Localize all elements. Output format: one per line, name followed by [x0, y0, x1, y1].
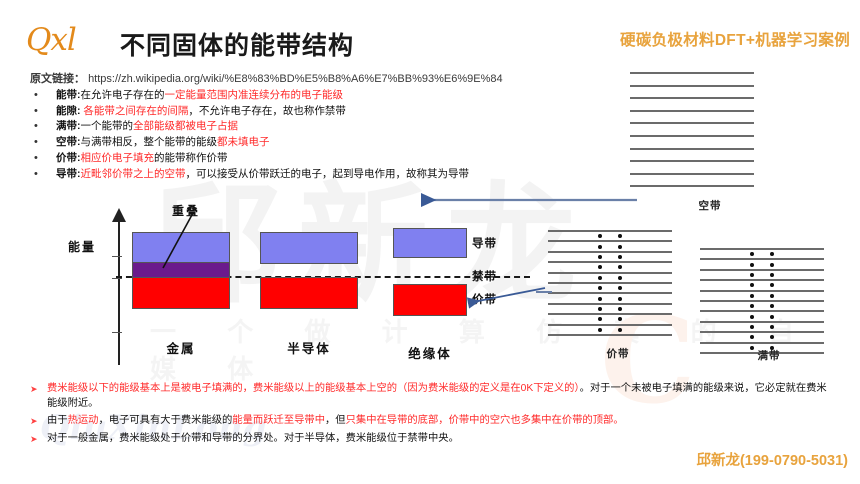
energy-level-line — [548, 324, 672, 326]
definition-segment: 各能带之间存在的间隔 — [83, 105, 188, 117]
note-marker-icon: ➤ — [30, 414, 47, 429]
semiconductor-conduction-band — [260, 232, 358, 264]
energy-level-line — [548, 251, 672, 253]
page-title: 不同固体的能带结构 — [120, 26, 354, 62]
definition-segment: 在允许电子存在的 — [81, 89, 165, 101]
electron-dot — [770, 304, 774, 308]
electron-dot — [598, 307, 602, 311]
energy-level-line — [548, 272, 672, 274]
note-segment: 对于一般金属，费米能级处于价带和导带的分界处。对于半导体，费米能级位于禁带中央。 — [47, 433, 459, 444]
ladder-full-band — [700, 248, 838, 360]
definition-term: 价带: — [56, 152, 81, 164]
electron-dot — [750, 325, 754, 329]
energy-level-line — [548, 313, 672, 315]
note-item: ➤费米能级以下的能级基本上是被电子填满的，费米能级以上的能级基本上空的（因为费米… — [30, 382, 830, 411]
energy-level-line — [700, 310, 824, 312]
note-segment: ，但 — [325, 415, 346, 426]
energy-level-line — [548, 240, 672, 242]
electron-dot — [598, 286, 602, 290]
energy-level-line — [630, 148, 754, 150]
definition-term: 空带: — [56, 136, 81, 148]
overlap-label: 重叠 — [172, 202, 200, 219]
energy-level-line — [630, 135, 754, 137]
electron-dot — [618, 328, 622, 332]
column-label-insulator: 绝缘体 — [385, 343, 475, 362]
electron-dot — [750, 315, 754, 319]
electron-dot — [770, 335, 774, 339]
energy-level-line — [548, 334, 672, 336]
definition-segment: 都未填电子 — [217, 136, 270, 148]
electron-dot — [598, 255, 602, 259]
metal-conduction-band — [132, 232, 230, 264]
note-segment: ，电子可具有大于费米能级的 — [98, 415, 232, 426]
energy-level-line — [548, 292, 672, 294]
side-label-forbidden-band: 禁带 — [472, 268, 497, 284]
definition-segment: 一个能带的 — [81, 120, 134, 132]
definition-segment: 的能带称作价带 — [154, 152, 228, 164]
ladder-label-full-band: 满带 — [700, 348, 838, 363]
energy-level-line — [630, 72, 754, 74]
electron-dot — [750, 335, 754, 339]
definition-text: 能带:在允许电子存在的一定能量范围内准连续分布的电子能级 — [56, 88, 343, 102]
note-segment: 热运动 — [68, 415, 99, 426]
electron-dot — [598, 297, 602, 301]
bullet-marker: • — [34, 104, 56, 118]
energy-level-line — [700, 248, 824, 250]
electron-dot — [598, 317, 602, 321]
note-segment: 能量而跃迁至导带中 — [232, 415, 325, 426]
bullet-marker: • — [34, 88, 56, 102]
energy-level-line — [700, 331, 824, 333]
electron-dot — [750, 263, 754, 267]
bullet-marker: • — [34, 167, 56, 181]
axis-tick — [112, 332, 122, 333]
definition-item: •价带:相应价电子填充的能带称作价带 — [34, 151, 594, 165]
electron-dot — [618, 245, 622, 249]
definition-item: •空带:与满带相反，整个能带的能级都未填电子 — [34, 135, 594, 149]
source-label: 原文链接： — [30, 73, 85, 85]
ladder-valence-band — [548, 230, 688, 342]
energy-level-line — [630, 110, 754, 112]
definition-segment: 与满带相反，整个能带的能级 — [81, 136, 218, 148]
electron-dot — [770, 263, 774, 267]
energy-level-line — [630, 173, 754, 175]
note-segment: 由于 — [47, 415, 68, 426]
electron-dot — [750, 283, 754, 287]
summary-notes: ➤费米能级以下的能级基本上是被电子填满的，费米能级以上的能级基本上空的（因为费米… — [30, 382, 830, 450]
electron-dot — [598, 245, 602, 249]
energy-level-line — [630, 160, 754, 162]
energy-level-line — [548, 303, 672, 305]
definition-item: •能隙: 各能带之间存在的间隔，不允许电子存在，故也称作禁带 — [34, 104, 594, 118]
definition-text: 满带:一个能带的全部能级都被电子占据 — [56, 119, 238, 133]
axis-tick — [112, 278, 122, 279]
insulator-conduction-band — [393, 228, 467, 258]
note-text: 对于一般金属，费米能级处于价带和导带的分界处。对于半导体，费米能级位于禁带中央。 — [47, 432, 830, 447]
definition-text: 导带:近毗邻价带之上的空带，可以接受从价带跃迁的电子，起到导电作用，故称其为导带 — [56, 167, 469, 181]
energy-level-line — [700, 258, 824, 260]
author-signature: 邱新龙(199-0790-5031) — [696, 449, 848, 470]
energy-level-line — [548, 230, 672, 232]
metal-valence-band — [132, 277, 230, 309]
electron-dot — [770, 315, 774, 319]
definition-segment: ，不允许电子存在，故也称作禁带 — [188, 105, 346, 117]
side-label-conduction-band: 导带 — [472, 235, 497, 251]
note-segment: 只集中在导带的底部，价带中的空穴也多集中在价带的顶部。 — [346, 415, 624, 426]
note-marker-icon: ➤ — [30, 432, 47, 447]
axis-tick — [112, 256, 122, 257]
energy-level-line — [630, 185, 754, 187]
bullet-marker: • — [34, 135, 56, 149]
energy-level-line — [700, 321, 824, 323]
electron-dot — [598, 265, 602, 269]
insulator-valence-band — [393, 284, 467, 316]
electron-dot — [618, 297, 622, 301]
note-text: 费米能级以下的能级基本上是被电子填满的，费米能级以上的能级基本上空的（因为费米能… — [47, 382, 830, 411]
energy-level-line — [700, 342, 824, 344]
semiconductor-valence-band — [260, 277, 358, 309]
definition-term: 能带: — [56, 89, 81, 101]
electron-dot — [618, 255, 622, 259]
definition-list: •能带:在允许电子存在的一定能量范围内准连续分布的电子能级•能隙: 各能带之间存… — [34, 88, 594, 182]
ladder-label-empty-band: 空带 — [630, 198, 790, 213]
electron-dot — [618, 307, 622, 311]
subject-header: 硬碳负极材料DFT+机器学习案例 — [620, 28, 850, 50]
brand-logo: Qxl — [26, 22, 106, 58]
definition-segment: 相应价电子填充 — [81, 152, 155, 164]
bullet-marker: • — [34, 119, 56, 133]
energy-level-line — [700, 300, 824, 302]
electron-dot — [750, 304, 754, 308]
electron-dot — [750, 252, 754, 256]
y-axis-label: 能量 — [68, 238, 96, 255]
note-item: ➤由于热运动，电子可具有大于费米能级的能量而跃迁至导带中，但只集中在导带的底部，… — [30, 414, 830, 429]
column-label-metal: 金属 — [132, 338, 230, 357]
electron-dot — [770, 283, 774, 287]
definition-segment: ，可以接受从价带跃迁的电子，起到导电作用，故称其为导带 — [186, 168, 470, 180]
electron-dot — [598, 234, 602, 238]
electron-dot — [770, 325, 774, 329]
definition-text: 能隙: 各能带之间存在的间隔，不允许电子存在，故也称作禁带 — [56, 104, 346, 118]
slide: 邱新龙 一 个 做 计 算 仿 真 的 自 媒 体 C QiuXinLong Q… — [0, 0, 860, 484]
definition-item: •能带:在允许电子存在的一定能量范围内准连续分布的电子能级 — [34, 88, 594, 102]
source-url[interactable]: https://zh.wikipedia.org/wiki/%E8%83%BD%… — [88, 73, 503, 85]
bullet-marker: • — [34, 151, 56, 165]
definition-item: •满带:一个能带的全部能级都被电子占据 — [34, 119, 594, 133]
definition-term: 导带: — [56, 168, 81, 180]
source-link-line: 原文链接： https://zh.wikipedia.org/wiki/%E8%… — [30, 70, 503, 86]
ladder-label-valence-band: 价带 — [548, 346, 688, 361]
metal-overlap-band — [132, 262, 230, 278]
definition-item: •导带:近毗邻价带之上的空带，可以接受从价带跃迁的电子，起到导电作用，故称其为导… — [34, 167, 594, 181]
note-segment: 费米能级以下的能级基本上是被电子填满的，费米能级以上的能级基本上空的（因为费米能… — [47, 383, 580, 394]
side-label-valence-band: 价带 — [472, 291, 497, 307]
electron-dot — [598, 276, 602, 280]
electron-dot — [618, 265, 622, 269]
definition-segment: 一定能量范围内准连续分布的电子能级 — [165, 89, 344, 101]
energy-level-line — [548, 282, 672, 284]
electron-dot — [618, 317, 622, 321]
definition-text: 空带:与满带相反，整个能带的能级都未填电子 — [56, 135, 270, 149]
electron-dot — [598, 328, 602, 332]
definition-segment: 全部能级都被电子占据 — [133, 120, 238, 132]
electron-dot — [750, 294, 754, 298]
electron-dot — [618, 286, 622, 290]
band-structure-diagram: 能量 费米能级 金属 重叠 半导体 绝缘体 导带 禁带 价带 — [60, 200, 530, 370]
note-text: 由于热运动，电子可具有大于费米能级的能量而跃迁至导带中，但只集中在导带的底部，价… — [47, 414, 830, 429]
energy-level-line — [700, 279, 824, 281]
note-marker-icon: ➤ — [30, 382, 47, 397]
electron-dot — [618, 234, 622, 238]
definition-term: 满带: — [56, 120, 81, 132]
definition-term: 能隙: — [56, 105, 81, 117]
energy-level-line — [630, 122, 754, 124]
electron-dot — [618, 276, 622, 280]
column-label-semiconductor: 半导体 — [260, 338, 358, 357]
definition-segment: 近毗邻价带之上的空带 — [81, 168, 186, 180]
electron-dot — [770, 252, 774, 256]
energy-level-line — [700, 269, 824, 271]
electron-dot — [750, 273, 754, 277]
definition-text: 价带:相应价电子填充的能带称作价带 — [56, 151, 228, 165]
electron-dot — [770, 294, 774, 298]
energy-level-line — [630, 85, 754, 87]
energy-axis — [118, 220, 120, 365]
energy-level-line — [700, 290, 824, 292]
note-item: ➤对于一般金属，费米能级处于价带和导带的分界处。对于半导体，费米能级位于禁带中央… — [30, 432, 830, 447]
ladder-empty-band — [630, 72, 790, 192]
energy-level-line — [548, 261, 672, 263]
energy-level-line — [630, 97, 754, 99]
electron-dot — [770, 273, 774, 277]
